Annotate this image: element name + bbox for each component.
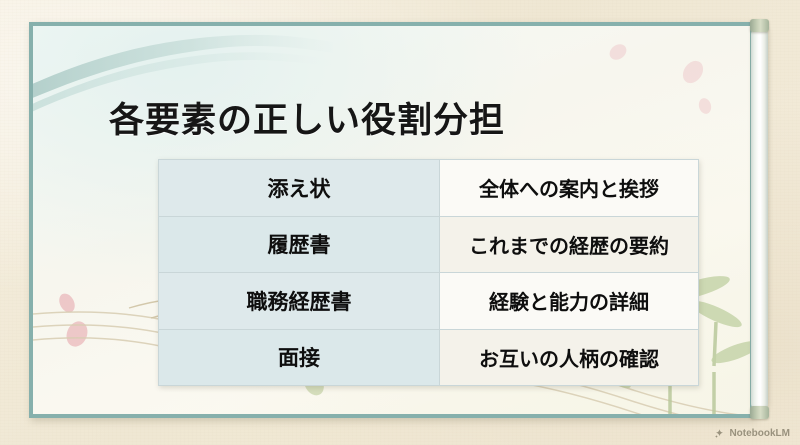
table-cell-role: お互いの人柄の確認: [440, 329, 699, 386]
scroll-roller-right: [751, 16, 768, 422]
role-assignment-table: 添え状 全体への案内と挨拶 履歴書 これまでの経歴の要約 職務経歴書 経験と能力…: [158, 159, 699, 386]
table-cell-role: 経験と能力の詳細: [440, 273, 699, 330]
notebooklm-watermark: NotebookLM: [714, 428, 790, 439]
table-cell-item: 履歴書: [159, 216, 440, 273]
notebooklm-sparkle-icon: [714, 428, 725, 439]
table-row: 添え状 全体への案内と挨拶: [159, 160, 699, 217]
scroll-roller-cap-bottom: [750, 406, 769, 419]
table-cell-item: 職務経歴書: [159, 273, 440, 330]
scroll-roller-body: [751, 26, 768, 412]
table-cell-item: 面接: [159, 329, 440, 386]
page-title: 各要素の正しい役割分担: [109, 92, 505, 143]
watermark-label: NotebookLM: [729, 428, 790, 439]
scroll-panel: 各要素の正しい役割分担 添え状 全体への案内と挨拶 履歴書 これまでの経歴の要約…: [29, 22, 754, 418]
table-row: 面接 お互いの人柄の確認: [159, 329, 699, 386]
slide-canvas: 各要素の正しい役割分担 添え状 全体への案内と挨拶 履歴書 これまでの経歴の要約…: [0, 0, 800, 445]
table-cell-role: これまでの経歴の要約: [440, 216, 699, 273]
scroll-roller-cap-top: [750, 19, 769, 32]
table-row: 職務経歴書 経験と能力の詳細: [159, 273, 699, 330]
table-cell-item: 添え状: [159, 160, 440, 217]
table-row: 履歴書 これまでの経歴の要約: [159, 216, 699, 273]
table-cell-role: 全体への案内と挨拶: [440, 160, 699, 217]
